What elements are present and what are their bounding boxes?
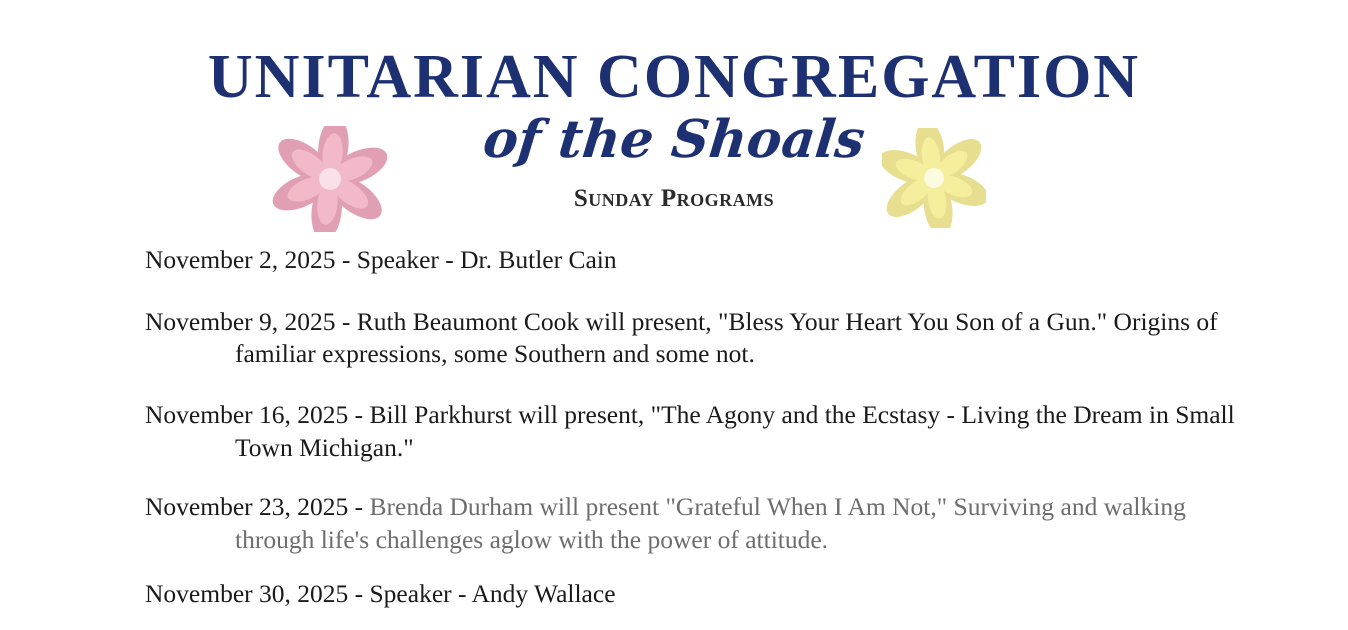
organization-subtitle: of the Shoals (0, 114, 1348, 166)
program-description: Speaker - Andy Wallace (370, 579, 616, 608)
program-description: Speaker - Dr. Butler Cain (357, 245, 617, 274)
program-description-continued: familiar expressions, some Southern and … (145, 338, 1280, 371)
poster-page: Unitarian Congregation of the Shoals Sun… (0, 0, 1348, 630)
program-entry: November 16, 2025 - Bill Parkhurst will … (55, 399, 1280, 464)
program-description-continued: Town Michigan." (145, 432, 1280, 465)
section-label: Sunday Programs (0, 186, 1348, 211)
program-list: November 2, 2025 - Speaker - Dr. Butler … (145, 244, 1280, 611)
program-description: Bill Parkhurst will present, "The Agony … (370, 400, 1235, 429)
program-entry: November 9, 2025 - Ruth Beaumont Cook wi… (55, 306, 1280, 371)
program-description-continued: through life's challenges aglow with the… (145, 524, 1280, 557)
program-date: November 16, 2025 - (145, 400, 370, 429)
organization-title: Unitarian Congregation (0, 46, 1348, 108)
program-date: November 30, 2025 - (145, 579, 370, 608)
program-date: November 9, 2025 - (145, 307, 357, 336)
program-date: November 2, 2025 - (145, 245, 357, 274)
poster-header: Unitarian Congregation of the Shoals Sun… (0, 0, 1348, 232)
program-date: November 23, 2025 - (145, 492, 370, 521)
program-entry: November 2, 2025 - Speaker - Dr. Butler … (55, 244, 1280, 277)
program-description: Ruth Beaumont Cook will present, "Bless … (357, 307, 1218, 336)
program-entry: November 23, 2025 - Brenda Durham will p… (55, 491, 1280, 556)
program-entry: November 30, 2025 - Speaker - Andy Walla… (55, 578, 1280, 611)
program-description: Brenda Durham will present "Grateful Whe… (370, 492, 1186, 521)
